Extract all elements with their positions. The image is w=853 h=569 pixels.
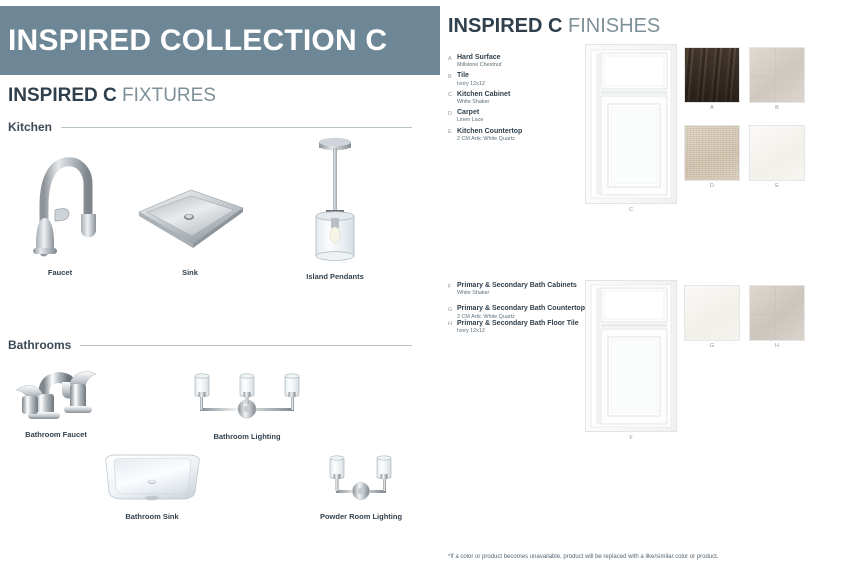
- legend-item: E Kitchen Countertop 2 CM Artic White Qu…: [448, 128, 548, 142]
- legend-secondary: F Primary & Secondary Bath Cabinets Whit…: [448, 282, 593, 338]
- section-label-kitchen: Kitchen: [8, 120, 52, 134]
- legend-desc: 2 CM Artic White Quartz: [457, 136, 522, 142]
- cabinet-kitchen: C: [585, 44, 677, 204]
- fixture-label: Bathroom Faucet: [0, 430, 112, 439]
- legend-key: A: [448, 54, 457, 62]
- legend-item: C Kitchen Cabinet White Shaker: [448, 91, 548, 105]
- legend-item: G Primary & Secondary Bath Countertops 2…: [448, 305, 593, 319]
- cabinet-key: C: [585, 207, 677, 213]
- fixtures-column: INSPIRED COLLECTION C INSPIRED C FIXTURE…: [0, 0, 440, 569]
- disclaimer-footnote: *If a color or product becomes unavailab…: [448, 554, 718, 560]
- fixture-powder-room-lighting: Powder Room Lighting: [318, 452, 404, 521]
- swatch-bath-countertop: G: [684, 285, 740, 341]
- section-rule: [80, 345, 412, 346]
- fixture-label: Bathroom Sink: [96, 512, 208, 521]
- vanity-light-2-icon: [318, 452, 404, 509]
- fixtures-heading-strong: INSPIRED C: [8, 85, 117, 106]
- fixture-island-pendants: Island Pendants: [296, 136, 374, 281]
- legend-name: Primary & Secondary Bath Cabinets: [457, 282, 577, 290]
- fixture-label: Faucet: [14, 268, 106, 277]
- bath-sink-icon: [96, 452, 208, 509]
- swatch-hard-surface: A: [684, 47, 740, 103]
- swatch-carpet: D: [684, 125, 740, 181]
- fixture-label: Island Pendants: [296, 272, 374, 281]
- legend-primary: A Hard Surface Millstone Chestnut B Tile…: [448, 54, 548, 146]
- section-header-bathrooms: Bathrooms: [8, 338, 412, 352]
- legend-desc: White Shaker: [457, 99, 510, 105]
- legend-desc: Ivory 12x12: [457, 81, 485, 87]
- swatch-key: G: [684, 343, 740, 349]
- legend-name: Primary & Secondary Bath Floor Tile: [457, 320, 579, 328]
- fixture-label: Powder Room Lighting: [318, 512, 404, 521]
- fixture-kitchen-sink: Sink: [133, 182, 247, 277]
- section-label-bathrooms: Bathrooms: [8, 338, 71, 352]
- fixture-label: Bathroom Lighting: [186, 432, 308, 441]
- fixture-bathroom-faucet: Bathroom Faucet: [0, 360, 112, 439]
- page-title: INSPIRED COLLECTION C: [0, 26, 387, 56]
- finishes-heading: INSPIRED C FINISHES: [448, 16, 660, 36]
- legend-desc: Ivory 12x12: [457, 328, 579, 334]
- kitchen-faucet-icon: [14, 140, 106, 265]
- collection-banner: INSPIRED COLLECTION C: [0, 6, 440, 75]
- legend-key: F: [448, 282, 457, 290]
- design-board-page: INSPIRED COLLECTION C INSPIRED C FIXTURE…: [0, 0, 853, 569]
- legend-key: D: [448, 109, 457, 117]
- swatch-bath-floor-tile: H: [749, 285, 805, 341]
- swatch-key: A: [684, 105, 740, 111]
- fixtures-heading-light: FIXTURES: [122, 85, 216, 106]
- swatch-key: B: [749, 105, 805, 111]
- swatch-color: [749, 285, 805, 341]
- swatch-tile: B: [749, 47, 805, 103]
- swatch-color: [749, 47, 805, 103]
- section-rule: [61, 127, 412, 128]
- legend-name: Hard Surface: [457, 54, 501, 62]
- legend-desc: White Shaker: [457, 290, 577, 296]
- fixture-kitchen-faucet: Faucet: [14, 140, 106, 277]
- swatch-color: [684, 47, 740, 103]
- legend-name: Carpet: [457, 109, 483, 117]
- legend-item: D Carpet Linen Lace: [448, 109, 548, 123]
- legend-desc: Millstone Chestnut: [457, 62, 501, 68]
- kitchen-sink-icon: [133, 182, 247, 265]
- legend-item: F Primary & Secondary Bath Cabinets Whit…: [448, 282, 593, 296]
- finishes-heading-light: FINISHES: [568, 15, 660, 37]
- fixtures-heading: INSPIRED C FIXTURES: [8, 86, 216, 105]
- swatch-color: [684, 125, 740, 181]
- section-header-kitchen: Kitchen: [8, 120, 412, 134]
- finishes-heading-strong: INSPIRED C: [448, 15, 562, 37]
- pendant-light-icon: [296, 136, 374, 269]
- cabinet-bath: F: [585, 280, 677, 432]
- legend-key: C: [448, 91, 457, 99]
- legend-item: B Tile Ivory 12x12: [448, 72, 548, 86]
- fixture-bathroom-lighting: Bathroom Lighting: [186, 368, 308, 441]
- vanity-light-3-icon: [186, 368, 308, 429]
- swatch-kitchen-countertop: E: [749, 125, 805, 181]
- legend-name: Kitchen Cabinet: [457, 91, 510, 99]
- legend-key: B: [448, 72, 457, 80]
- swatch-color: [749, 125, 805, 181]
- legend-item: H Primary & Secondary Bath Floor Tile Iv…: [448, 320, 593, 334]
- swatch-key: H: [749, 343, 805, 349]
- fixture-bathroom-sink: Bathroom Sink: [96, 452, 208, 521]
- legend-key: G: [448, 305, 457, 313]
- legend-key: E: [448, 128, 457, 136]
- fixture-label: Sink: [133, 268, 247, 277]
- legend-key: H: [448, 320, 457, 328]
- swatch-key: E: [749, 183, 805, 189]
- legend-name: Primary & Secondary Bath Countertops: [457, 305, 589, 313]
- swatch-color: [684, 285, 740, 341]
- legend-name: Kitchen Countertop: [457, 128, 522, 136]
- legend-desc: Linen Lace: [457, 117, 483, 123]
- swatch-key: D: [684, 183, 740, 189]
- bath-faucet-icon: [0, 360, 112, 427]
- finishes-column: INSPIRED C FINISHES A Hard Surface Mills…: [440, 0, 853, 569]
- legend-name: Tile: [457, 72, 485, 80]
- cabinet-key: F: [585, 435, 677, 441]
- legend-item: A Hard Surface Millstone Chestnut: [448, 54, 548, 68]
